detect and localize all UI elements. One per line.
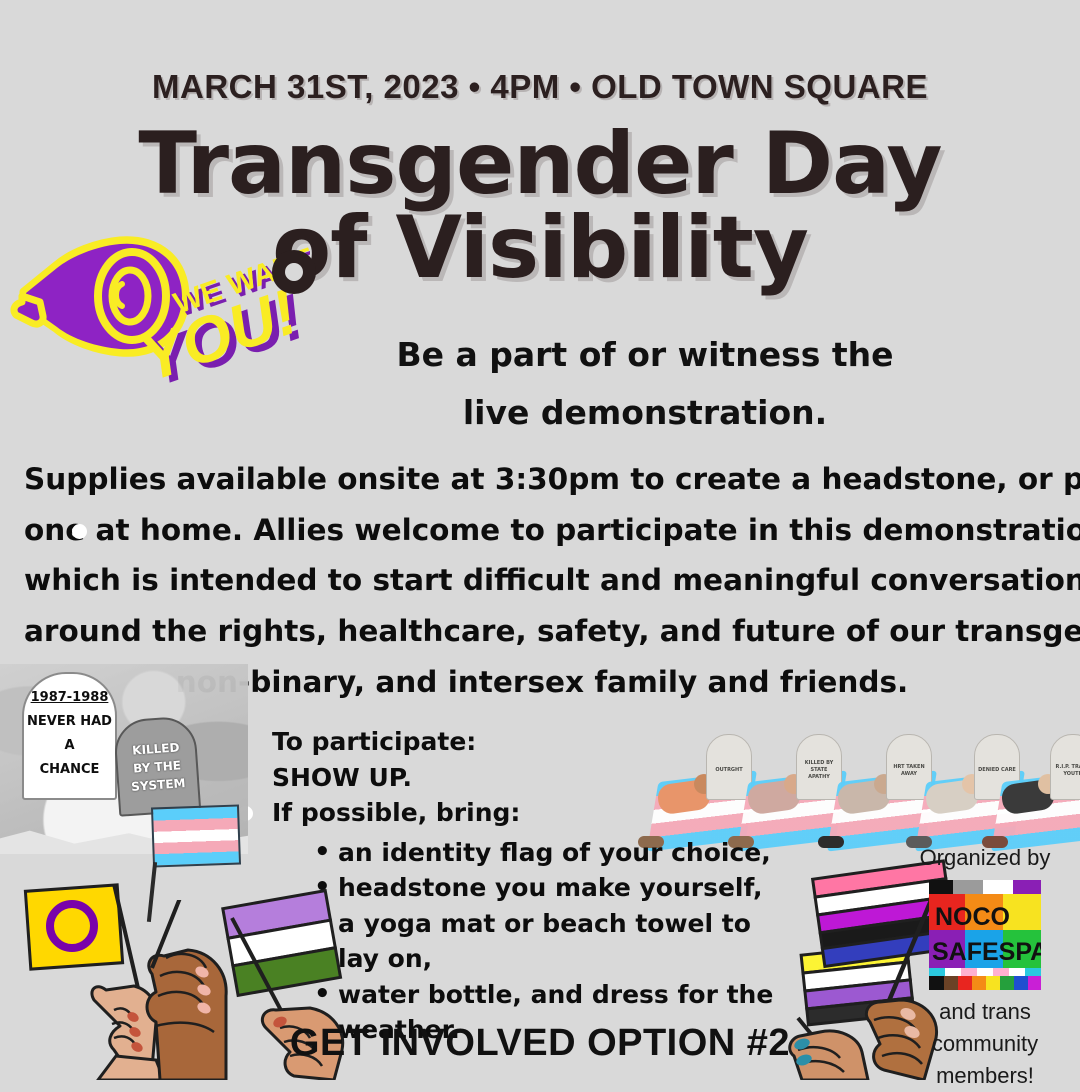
protester-headstone: KILLED BY STATE APATHY	[796, 734, 842, 800]
protester-feet	[818, 836, 844, 848]
protester-headstone: R.I.P. TRANS YOUTH	[1050, 734, 1080, 800]
body-line-1: Supplies available onsite at 3:30pm to c…	[24, 454, 1060, 505]
headstone-2-line-1: KILLED	[116, 739, 195, 758]
intersex-flag-icon	[25, 885, 122, 969]
headstone-1-line-2: NEVER HAD	[24, 714, 115, 729]
get-involved-footer: GET INVOLVED OPTION #2	[0, 1022, 1080, 1065]
transgender-flag-mid	[151, 804, 241, 867]
megaphone-graphic: WE WANT WE WANT YOU! YOU!	[10, 222, 310, 402]
logo-top-strip	[929, 880, 1041, 894]
subheading-line-1: Be a part of or witness the	[300, 326, 990, 384]
logo-bottom-strip	[929, 976, 1041, 990]
participate-show-up: SHOW UP.	[272, 760, 792, 796]
event-date-line: MARCH 31ST, 2023 • 4PM • OLD TOWN SQUARE	[0, 68, 1080, 106]
organized-by-label: Organized by	[900, 842, 1070, 874]
dot-decoration	[272, 250, 316, 294]
headstone-1-line-4: CHANCE	[24, 762, 115, 777]
subheading-line-2: live demonstration.	[300, 384, 990, 442]
photo-headstone-2: KILLED BY THE SYSTEM	[113, 715, 201, 816]
body-line-3: which is intended to start difficult and…	[24, 555, 1060, 606]
headstone-1-years: 1987-1988	[24, 690, 115, 705]
headstone-2-line-3: SYSTEM	[119, 775, 198, 794]
list-item: an identity flag of your choice,	[314, 835, 792, 871]
genderqueer-flag-icon	[223, 891, 341, 996]
dot-accent-left	[72, 524, 87, 539]
photo-headstone-1: 1987-1988 NEVER HAD A CHANCE	[22, 672, 117, 800]
participate-if-possible: If possible, bring:	[272, 795, 792, 831]
headstone-2-line-2: BY THE	[118, 757, 197, 776]
noco-safespace-logo: NOCO SAFESPACE	[929, 880, 1041, 990]
participate-heading: To participate:	[272, 724, 792, 760]
logo-word-safespace: SAFESPACE	[932, 938, 1041, 966]
page-title-line-1: Transgender Day	[0, 122, 1080, 206]
poster-root: MARCH 31ST, 2023 • 4PM • OLD TOWN SQUARE…	[0, 0, 1080, 1080]
subheading: Be a part of or witness the live demonst…	[300, 326, 990, 442]
logo-word-noco: NOCO	[935, 903, 1010, 931]
headstone-1-line-3: A	[24, 738, 115, 753]
logo-pastel-strip	[929, 968, 1041, 976]
body-line-4: around the rights, healthcare, safety, a…	[24, 606, 1060, 657]
body-line-2: one at home. Allies welcome to participa…	[24, 505, 1060, 556]
